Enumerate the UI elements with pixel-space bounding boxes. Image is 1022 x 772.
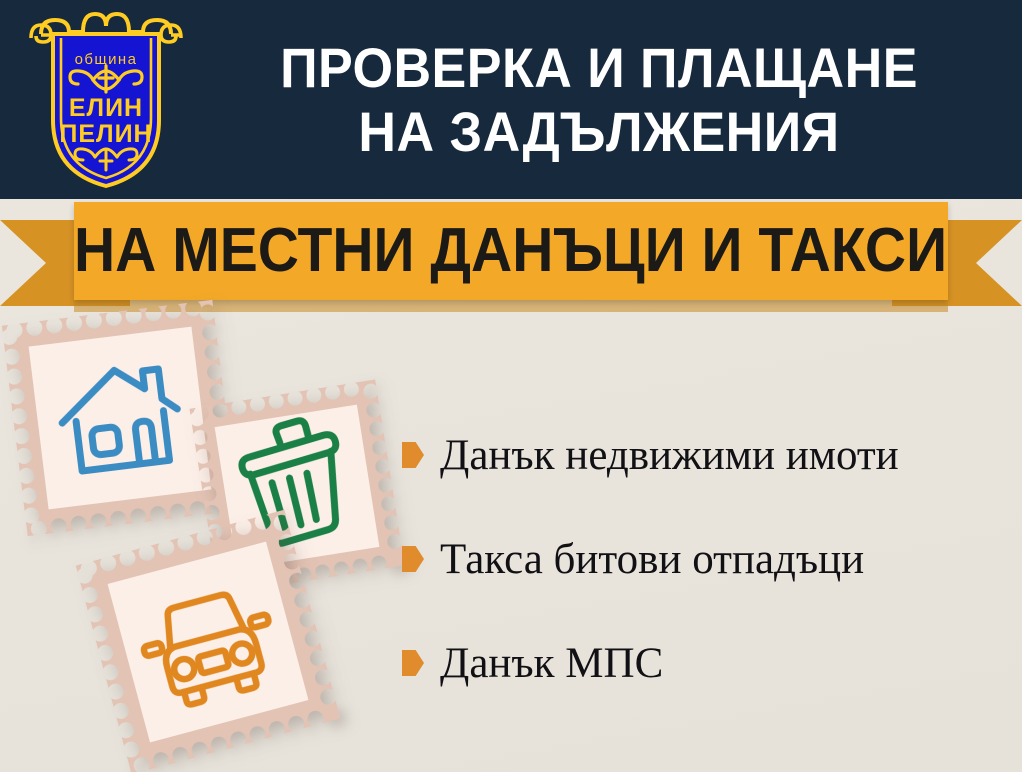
list-item-label: Данък МПС xyxy=(440,642,663,685)
arrow-marker-icon xyxy=(402,546,424,572)
page-title-line-1: ПРОВЕРКА И ПЛАЩАНЕ xyxy=(280,36,918,99)
tax-type-list: Данък недвижими имоти Такса битови отпад… xyxy=(402,425,1022,715)
page-title: ПРОВЕРКА И ПЛАЩАНЕ НА ЗАДЪЛЖЕНИЯ xyxy=(224,17,974,182)
list-item[interactable]: Данък недвижими имоти xyxy=(402,425,899,485)
poster-canvas: община ЕЛИН ПЕЛИН xyxy=(0,0,1022,772)
coat-of-arms-icon: община ЕЛИН ПЕЛИН xyxy=(23,8,189,190)
arrow-marker-icon xyxy=(402,650,424,676)
list-item[interactable]: Данък МПС xyxy=(402,633,663,693)
svg-text:ПЕЛИН: ПЕЛИН xyxy=(59,120,152,148)
header-bar: община ЕЛИН ПЕЛИН xyxy=(0,0,1022,199)
page-title-line-2: НА ЗАДЪЛЖЕНИЯ xyxy=(358,100,839,163)
ribbon-banner: НА МЕСТНИ ДАНЪЦИ И ТАКСИ xyxy=(0,198,1022,310)
list-item-label: Такса битови отпадъци xyxy=(440,538,864,581)
arrow-marker-icon xyxy=(402,442,424,468)
list-item[interactable]: Такса битови отпадъци xyxy=(402,529,864,589)
ribbon-label: НА МЕСТНИ ДАНЪЦИ И ТАКСИ xyxy=(74,220,947,282)
svg-text:ЕЛИН: ЕЛИН xyxy=(69,94,143,122)
ribbon-body: НА МЕСТНИ ДАНЪЦИ И ТАКСИ xyxy=(74,202,948,300)
list-item-label: Данък недвижими имоти xyxy=(440,434,899,477)
